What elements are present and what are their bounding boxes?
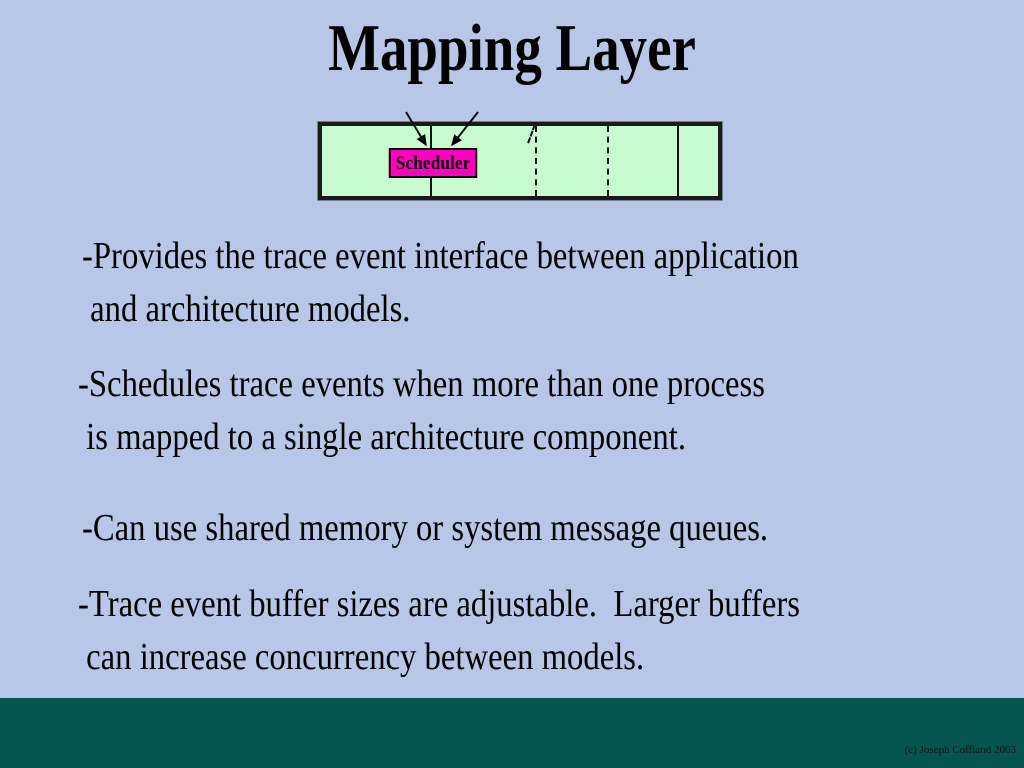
architecture-band — [318, 122, 722, 200]
copyright-credit: (c) Joseph Coffland 2003 — [905, 744, 1016, 757]
band-divider-3 — [607, 126, 609, 196]
page-title: Mapping Layer — [92, 8, 932, 88]
bullet-item-4: -Trace event buffer sizes are adjustable… — [78, 578, 800, 684]
bullet-item-3: -Can use shared memory or system message… — [82, 502, 768, 555]
scheduler-block: Scheduler — [389, 148, 477, 178]
bullet-item-2: -Schedules trace events when more than o… — [78, 358, 765, 464]
presentation-slide: Mapping Layer Scheduler -Provides the tr… — [0, 0, 1024, 768]
scheduler-label: Scheduler — [396, 154, 471, 173]
bullet-item-1: -Provides the trace event interface betw… — [82, 230, 799, 336]
footer-band — [0, 698, 1024, 768]
mapping-layer-diagram: Scheduler — [318, 122, 722, 200]
band-divider-4 — [677, 126, 679, 196]
